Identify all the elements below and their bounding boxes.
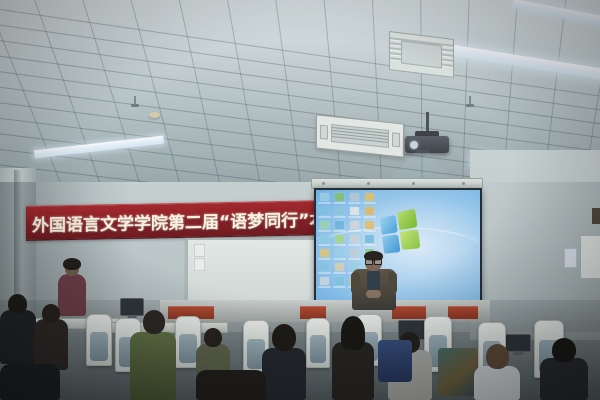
app-icon-glyph	[320, 277, 329, 285]
windows-logo-quadrant	[382, 234, 400, 253]
student-foreground	[196, 366, 266, 400]
student-head	[42, 304, 60, 323]
banner-text: 外国语言文学学院第二届“语梦同行”本科生分论	[32, 204, 326, 236]
desktop-icon-label	[363, 244, 376, 246]
desktop-icon-label	[318, 202, 331, 204]
presenter-arm	[388, 272, 397, 294]
app-icon[interactable]	[320, 249, 329, 260]
folder-icon[interactable]	[365, 207, 374, 218]
app-icon[interactable]	[350, 235, 359, 246]
student-seated	[262, 324, 306, 400]
app-icon-glyph	[335, 221, 344, 229]
presenter-glasses	[365, 259, 382, 263]
app-icon[interactable]	[335, 235, 344, 246]
student-seated	[0, 294, 36, 364]
desktop-icon-label	[318, 272, 331, 274]
student-torso	[540, 358, 588, 400]
document-icon-glyph	[350, 207, 359, 215]
desktop-icon-label	[333, 286, 346, 288]
desktop-icon-label	[333, 230, 346, 232]
audience-area	[0, 300, 600, 400]
student-torso	[332, 342, 374, 400]
desktop-icon-label	[333, 216, 346, 218]
student-head	[272, 324, 296, 351]
event-banner: 外国语言文学学院第二届“语梦同行”本科生分论	[26, 200, 326, 241]
desktop-icon-label	[348, 216, 361, 218]
app-icon[interactable]	[320, 263, 329, 274]
classroom-photo: 外国语言文学学院第二届“语梦同行”本科生分论	[0, 0, 600, 400]
student-torso	[196, 370, 266, 400]
student-seated	[540, 338, 588, 400]
student-seated	[332, 316, 374, 400]
app-icon[interactable]	[320, 221, 329, 232]
student-head	[8, 294, 27, 314]
desktop-icon-label	[348, 230, 361, 232]
student-seated	[130, 310, 176, 400]
desktop-icon-label	[348, 202, 361, 204]
whiteboard-note	[194, 244, 205, 257]
app-icon[interactable]	[320, 235, 329, 246]
student-head	[204, 328, 222, 347]
app-icon-glyph	[320, 235, 329, 243]
student-torso	[130, 332, 176, 400]
desktop-icon-label	[363, 202, 376, 204]
document-icon[interactable]	[350, 207, 359, 218]
app-icon-glyph	[320, 263, 329, 271]
desktop-icon-label	[348, 244, 361, 246]
sprinkler-head	[134, 96, 136, 105]
desktop-icon-label	[363, 230, 376, 232]
windows-logo-quadrant	[397, 209, 417, 230]
app-icon-glyph	[335, 235, 344, 243]
wall-panel	[580, 235, 600, 279]
app-icon-glyph	[350, 235, 359, 243]
classroom-chair	[306, 318, 330, 368]
student-head	[552, 338, 576, 362]
network-icon[interactable]	[350, 193, 359, 204]
computer-icon-glyph	[320, 193, 329, 201]
folder-icon-glyph	[365, 221, 374, 229]
desktop-icon-label	[333, 272, 346, 274]
app-icon[interactable]	[335, 221, 344, 232]
desktop-icon-label	[333, 244, 346, 246]
app-icon-glyph	[320, 221, 329, 229]
desktop-icon-label	[333, 258, 346, 260]
wall-notice	[564, 248, 577, 268]
air-vent-diffuser	[389, 31, 454, 78]
recycle-bin-icon-glyph	[335, 193, 344, 201]
app-icon-glyph	[335, 277, 344, 285]
student-head	[486, 344, 509, 369]
app-icon[interactable]	[335, 249, 344, 260]
student-hair	[63, 258, 81, 270]
wall-frame	[592, 208, 600, 224]
windows-logo-quadrant	[380, 215, 398, 235]
student-backpack	[438, 348, 478, 396]
student-foreground	[0, 356, 60, 400]
media-player-icon[interactable]	[335, 207, 344, 218]
app-icon[interactable]	[320, 277, 329, 288]
desktop-icon-label	[318, 286, 331, 288]
recycle-bin-icon[interactable]	[335, 193, 344, 204]
network-icon-glyph	[350, 193, 359, 201]
folder-icon[interactable]	[365, 221, 374, 232]
student-seated	[474, 344, 520, 400]
presenter-shirt	[367, 271, 380, 291]
desktop-icon-label	[363, 216, 376, 218]
student-head	[143, 310, 165, 334]
app-icon[interactable]	[365, 235, 374, 246]
sprinkler-head	[469, 96, 471, 105]
desktop-icon-label	[318, 216, 331, 218]
windows-logo-quadrant	[400, 229, 421, 250]
app-icon-glyph	[365, 235, 374, 243]
student-torso	[474, 366, 520, 400]
classroom-chair	[86, 314, 112, 366]
media-player-icon-glyph	[335, 207, 344, 215]
desktop-icon-label	[318, 230, 331, 232]
computer-icon[interactable]	[320, 193, 329, 204]
student-head	[341, 316, 365, 350]
projection-screen[interactable]	[314, 188, 482, 305]
presenter-hands	[366, 290, 381, 298]
app-icon-glyph	[320, 249, 329, 257]
student-backpack	[378, 340, 412, 382]
student-torso	[0, 364, 60, 400]
app-icon-glyph	[335, 249, 344, 257]
windows-logo	[380, 210, 424, 255]
app-icon-glyph	[350, 221, 359, 229]
browser-icon-glyph	[320, 207, 329, 215]
student-torso	[262, 348, 306, 400]
whiteboard-note	[194, 258, 205, 271]
app-icon[interactable]	[335, 277, 344, 288]
desktop-icon-label	[318, 258, 331, 260]
folder-icon-glyph	[365, 193, 374, 201]
app-icon[interactable]	[350, 221, 359, 232]
smoke-detector	[149, 112, 160, 118]
folder-icon[interactable]	[365, 193, 374, 204]
app-icon[interactable]	[335, 263, 344, 274]
app-icon-glyph	[335, 263, 344, 271]
folder-icon-glyph	[365, 207, 374, 215]
desktop-icon-label	[318, 244, 331, 246]
presenter-arm	[351, 272, 360, 294]
browser-icon[interactable]	[320, 207, 329, 218]
desktop-icon-label	[333, 202, 346, 204]
projector-lens	[410, 141, 418, 149]
